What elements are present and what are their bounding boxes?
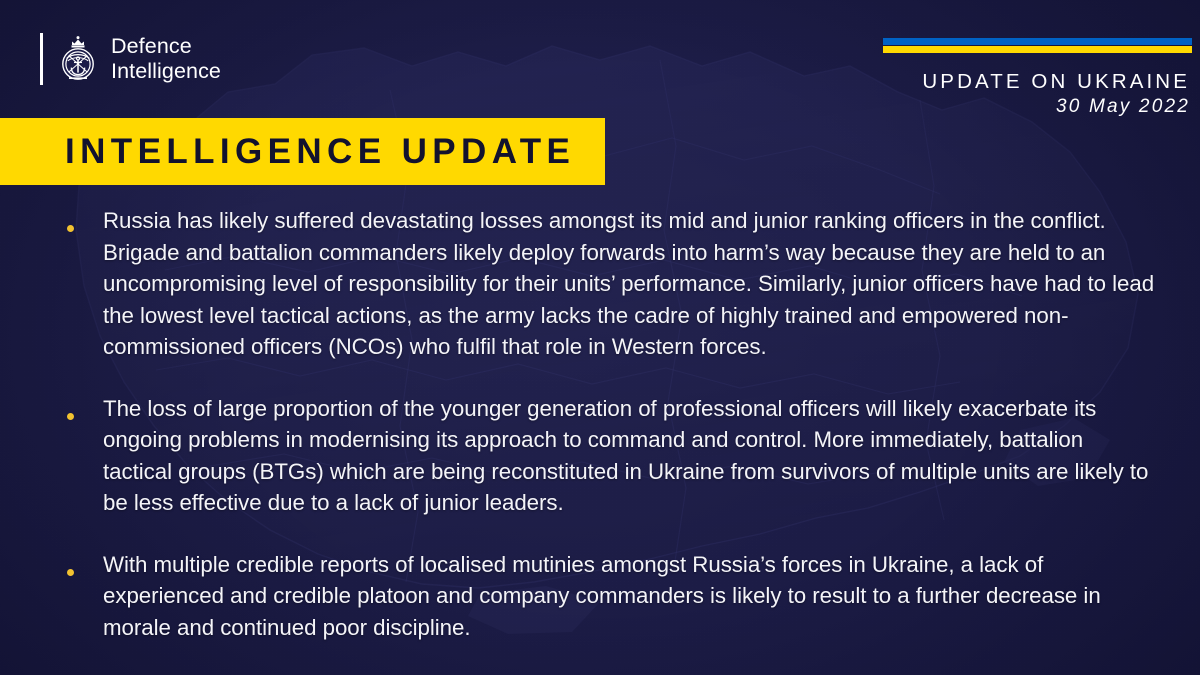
bullet-list: Russia has likely suffered devastating l… [0, 205, 1200, 643]
flag-stripe-blue [883, 38, 1192, 45]
page-title: INTELLIGENCE UPDATE [65, 133, 575, 171]
intelligence-update-banner: INTELLIGENCE UPDATE [0, 118, 605, 185]
bullet-paragraph: Russia has likely suffered devastating l… [103, 205, 1158, 363]
flag-stripe-yellow [883, 46, 1192, 53]
list-item: The loss of large proportion of the youn… [0, 393, 1200, 519]
list-item: With multiple credible reports of locali… [0, 549, 1200, 644]
intelligence-update-graphic: Defence Intelligence UPDATE ON UKRAINE 3… [0, 0, 1200, 675]
gold-dot-bullet-icon [67, 413, 74, 420]
gold-dot-bullet-icon [67, 569, 74, 576]
list-item: Russia has likely suffered devastating l… [0, 205, 1200, 363]
update-title: UPDATE ON UKRAINE [922, 70, 1190, 94]
brand-line-intelligence: Intelligence [111, 59, 221, 84]
mod-defence-intelligence-crest-icon [56, 33, 100, 85]
brand-line-defence: Defence [111, 34, 221, 59]
ukraine-flag-bar-icon [883, 38, 1192, 53]
brand-wordmark: Defence Intelligence [111, 34, 221, 84]
bullet-paragraph: With multiple credible reports of locali… [103, 549, 1158, 644]
update-date: 30 May 2022 [922, 95, 1190, 119]
bullet-paragraph: The loss of large proportion of the youn… [103, 393, 1158, 519]
defence-intelligence-brand: Defence Intelligence [40, 33, 221, 85]
gold-dot-bullet-icon [67, 225, 74, 232]
update-header-block: UPDATE ON UKRAINE 30 May 2022 [922, 70, 1190, 119]
vertical-rule-icon [40, 33, 43, 85]
